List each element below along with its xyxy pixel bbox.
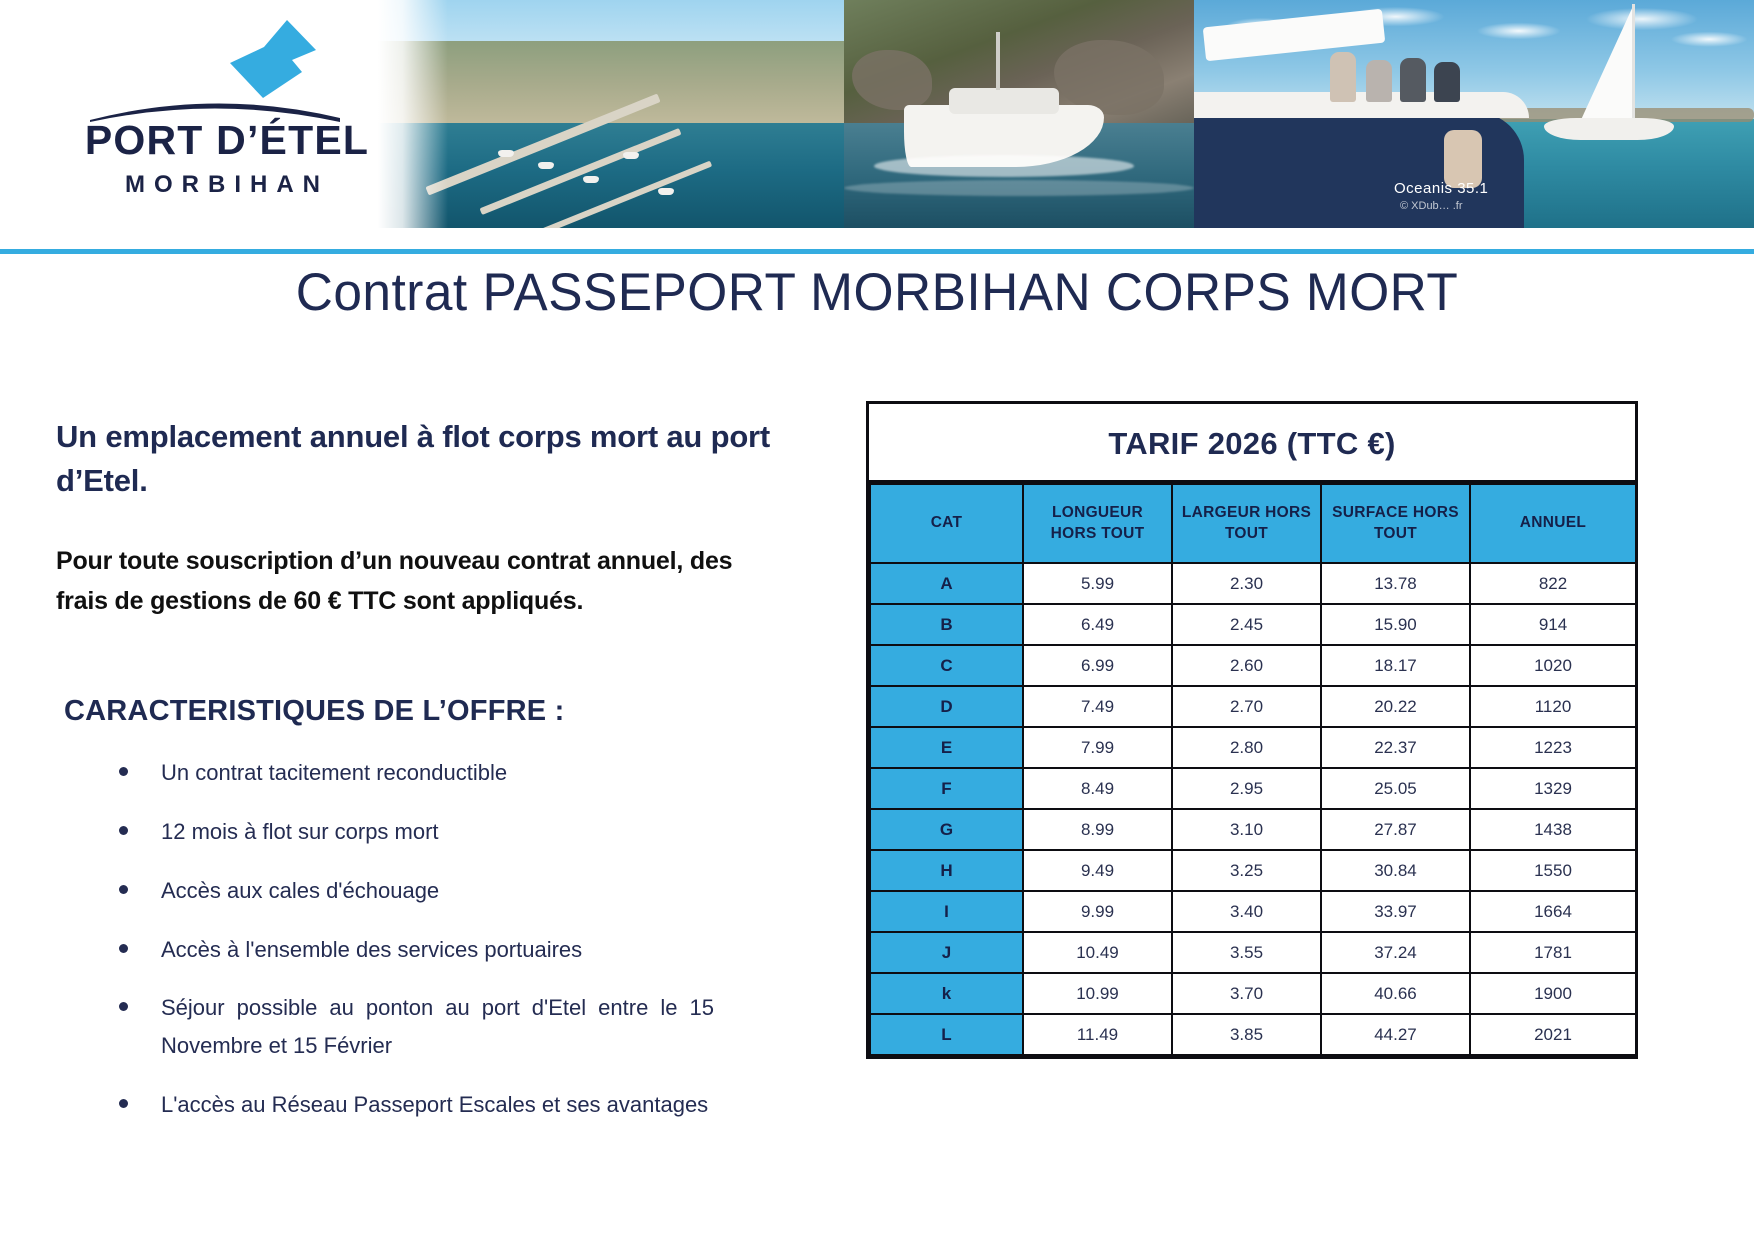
- tariff-caption: TARIF 2026 (TTC €): [869, 404, 1635, 483]
- sail-mark-icon: [230, 20, 316, 98]
- logo-wordmark: PORT D’ÉTEL: [62, 120, 392, 161]
- column-header-annuel: ANNUEL: [1470, 484, 1636, 563]
- fees-note: Pour toute souscription d’un nouveau con…: [56, 541, 776, 621]
- cell-cat: H: [870, 850, 1023, 891]
- column-header-largeur: LARGEUR HORS TOUT: [1172, 484, 1321, 563]
- bullet-icon: [119, 826, 128, 835]
- cell-largeur: 3.85: [1172, 1014, 1321, 1055]
- cell-cat: G: [870, 809, 1023, 850]
- table-row: D7.492.7020.221120: [870, 686, 1636, 727]
- cell-longueur: 9.49: [1023, 850, 1172, 891]
- cell-cat: I: [870, 891, 1023, 932]
- photo-boat-mast: [996, 32, 1000, 90]
- tariff-table-panel: TARIF 2026 (TTC €) CAT LONGUEUR HORS TOU…: [866, 401, 1638, 1059]
- page-title: Contrat PASSEPORT MORBIHAN CORPS MORT: [26, 262, 1727, 323]
- cell-longueur: 11.49: [1023, 1014, 1172, 1055]
- photo-boat: [658, 188, 674, 195]
- list-item-label: Séjour possible au ponton au port d'Etel…: [161, 995, 714, 1058]
- cell-cat: L: [870, 1014, 1023, 1055]
- cell-largeur: 3.70: [1172, 973, 1321, 1014]
- list-item-label: Un contrat tacitement reconductible: [161, 760, 507, 785]
- cell-annuel: 2021: [1470, 1014, 1636, 1055]
- cell-longueur: 10.49: [1023, 932, 1172, 973]
- cell-cat: F: [870, 768, 1023, 809]
- table-row: A5.992.3013.78822: [870, 563, 1636, 604]
- lead-statement: Un emplacement annuel à flot corps mort …: [56, 415, 776, 503]
- column-header-surface: SURFACE HORS TOUT: [1321, 484, 1470, 563]
- cell-annuel: 1438: [1470, 809, 1636, 850]
- cell-largeur: 3.10: [1172, 809, 1321, 850]
- list-item: Un contrat tacitement reconductible: [56, 754, 756, 792]
- tariff-table-head: CAT LONGUEUR HORS TOUT LARGEUR HORS TOUT…: [870, 484, 1636, 563]
- table-row: E7.992.8022.371223: [870, 727, 1636, 768]
- cell-surface: 44.27: [1321, 1014, 1470, 1055]
- table-row: H9.493.2530.841550: [870, 850, 1636, 891]
- photo-person: [1434, 62, 1460, 102]
- bullet-icon: [119, 1099, 128, 1108]
- cell-annuel: 1900: [1470, 973, 1636, 1014]
- table-row: F8.492.9525.051329: [870, 768, 1636, 809]
- boat-model-label: Oceanis 35.1: [1394, 180, 1488, 197]
- cell-longueur: 7.99: [1023, 727, 1172, 768]
- photo-boat-hull: [1544, 118, 1674, 140]
- cell-cat: C: [870, 645, 1023, 686]
- tariff-table-body: A5.992.3013.78822B6.492.4515.90914C6.992…: [870, 563, 1636, 1055]
- photo-boat-cabin: [949, 88, 1059, 114]
- cell-annuel: 1781: [1470, 932, 1636, 973]
- header-divider: [0, 249, 1754, 254]
- cell-surface: 27.87: [1321, 809, 1470, 850]
- table-row: C6.992.6018.171020: [870, 645, 1636, 686]
- table-row: I9.993.4033.971664: [870, 891, 1636, 932]
- photo-person: [1366, 60, 1392, 102]
- cell-surface: 22.37: [1321, 727, 1470, 768]
- photo-boat: [498, 150, 514, 157]
- cell-annuel: 1329: [1470, 768, 1636, 809]
- cell-surface: 37.24: [1321, 932, 1470, 973]
- features-list: Un contrat tacitement reconductible 12 m…: [56, 754, 776, 1124]
- features-heading: CARACTERISTIQUES DE L’OFFRE :: [64, 695, 776, 728]
- cell-longueur: 6.99: [1023, 645, 1172, 686]
- cell-surface: 20.22: [1321, 686, 1470, 727]
- column-header-cat: CAT: [870, 484, 1023, 563]
- cell-cat: E: [870, 727, 1023, 768]
- list-item: Accès à l'ensemble des services portuair…: [56, 931, 756, 969]
- photo-wake: [844, 180, 1194, 196]
- cell-longueur: 8.49: [1023, 768, 1172, 809]
- cell-longueur: 10.99: [1023, 973, 1172, 1014]
- cell-surface: 33.97: [1321, 891, 1470, 932]
- header-band: PORT D’ÉTEL MORBIHAN: [0, 0, 1754, 253]
- cell-annuel: 1550: [1470, 850, 1636, 891]
- tariff-table: CAT LONGUEUR HORS TOUT LARGEUR HORS TOUT…: [869, 483, 1637, 1056]
- column-header-longueur: LONGUEUR HORS TOUT: [1023, 484, 1172, 563]
- photo-person: [1400, 58, 1426, 102]
- sailboat-photo: Oceanis 35.1 © XDub… .fr: [1194, 0, 1754, 228]
- cell-longueur: 5.99: [1023, 563, 1172, 604]
- table-row: G8.993.1027.871438: [870, 809, 1636, 850]
- left-content-column: Un emplacement annuel à flot corps mort …: [56, 415, 776, 1145]
- photo-boat: [583, 176, 599, 183]
- document-page: PORT D’ÉTEL MORBIHAN: [0, 0, 1754, 1240]
- cell-annuel: 1664: [1470, 891, 1636, 932]
- cell-annuel: 1223: [1470, 727, 1636, 768]
- cell-surface: 13.78: [1321, 563, 1470, 604]
- cell-largeur: 2.70: [1172, 686, 1321, 727]
- table-header-row: CAT LONGUEUR HORS TOUT LARGEUR HORS TOUT…: [870, 484, 1636, 563]
- cell-largeur: 2.80: [1172, 727, 1321, 768]
- cell-largeur: 2.30: [1172, 563, 1321, 604]
- list-item-label: 12 mois à flot sur corps mort: [161, 819, 439, 844]
- motorboat-photo: [844, 0, 1194, 228]
- cell-annuel: 1120: [1470, 686, 1636, 727]
- cell-cat: A: [870, 563, 1023, 604]
- photo-boat: [623, 152, 639, 159]
- cell-cat: J: [870, 932, 1023, 973]
- cell-longueur: 9.99: [1023, 891, 1172, 932]
- list-item: Accès aux cales d'échouage: [56, 872, 756, 910]
- port-detel-logo: PORT D’ÉTEL MORBIHAN: [62, 8, 392, 228]
- list-item-label: L'accès au Réseau Passeport Escales et s…: [161, 1092, 708, 1117]
- bullet-icon: [119, 944, 128, 953]
- cell-largeur: 3.40: [1172, 891, 1321, 932]
- cell-annuel: 914: [1470, 604, 1636, 645]
- cell-surface: 15.90: [1321, 604, 1470, 645]
- cell-longueur: 7.49: [1023, 686, 1172, 727]
- cell-annuel: 1020: [1470, 645, 1636, 686]
- bullet-icon: [119, 767, 128, 776]
- bullet-icon: [119, 885, 128, 894]
- cell-longueur: 8.99: [1023, 809, 1172, 850]
- cell-largeur: 2.45: [1172, 604, 1321, 645]
- photo-deck: [1194, 92, 1529, 118]
- list-item: Séjour possible au ponton au port d'Etel…: [56, 989, 756, 1065]
- cell-annuel: 822: [1470, 563, 1636, 604]
- table-row: k10.993.7040.661900: [870, 973, 1636, 1014]
- cell-largeur: 2.60: [1172, 645, 1321, 686]
- photo-credit: © XDub… .fr: [1400, 200, 1463, 212]
- table-row: L11.493.8544.272021: [870, 1014, 1636, 1055]
- cell-cat: k: [870, 973, 1023, 1014]
- list-item-label: Accès aux cales d'échouage: [161, 878, 439, 903]
- cell-largeur: 3.25: [1172, 850, 1321, 891]
- list-item: 12 mois à flot sur corps mort: [56, 813, 756, 851]
- cell-surface: 40.66: [1321, 973, 1470, 1014]
- photo-wake: [874, 155, 1134, 177]
- table-row: J10.493.5537.241781: [870, 932, 1636, 973]
- cell-cat: D: [870, 686, 1023, 727]
- photo-boat: [538, 162, 554, 169]
- photo-mast: [1632, 4, 1635, 124]
- cell-largeur: 3.55: [1172, 932, 1321, 973]
- cell-largeur: 2.95: [1172, 768, 1321, 809]
- list-item: L'accès au Réseau Passeport Escales et s…: [56, 1086, 756, 1124]
- cell-longueur: 6.49: [1023, 604, 1172, 645]
- logo-subwordmark: MORBIHAN: [62, 173, 392, 197]
- cell-cat: B: [870, 604, 1023, 645]
- bullet-icon: [119, 1002, 128, 1011]
- photo-fade-overlay: [378, 0, 448, 228]
- table-row: B6.492.4515.90914: [870, 604, 1636, 645]
- cell-surface: 25.05: [1321, 768, 1470, 809]
- photo-person: [1330, 52, 1356, 102]
- cell-surface: 18.17: [1321, 645, 1470, 686]
- list-item-label: Accès à l'ensemble des services portuair…: [161, 937, 582, 962]
- cell-surface: 30.84: [1321, 850, 1470, 891]
